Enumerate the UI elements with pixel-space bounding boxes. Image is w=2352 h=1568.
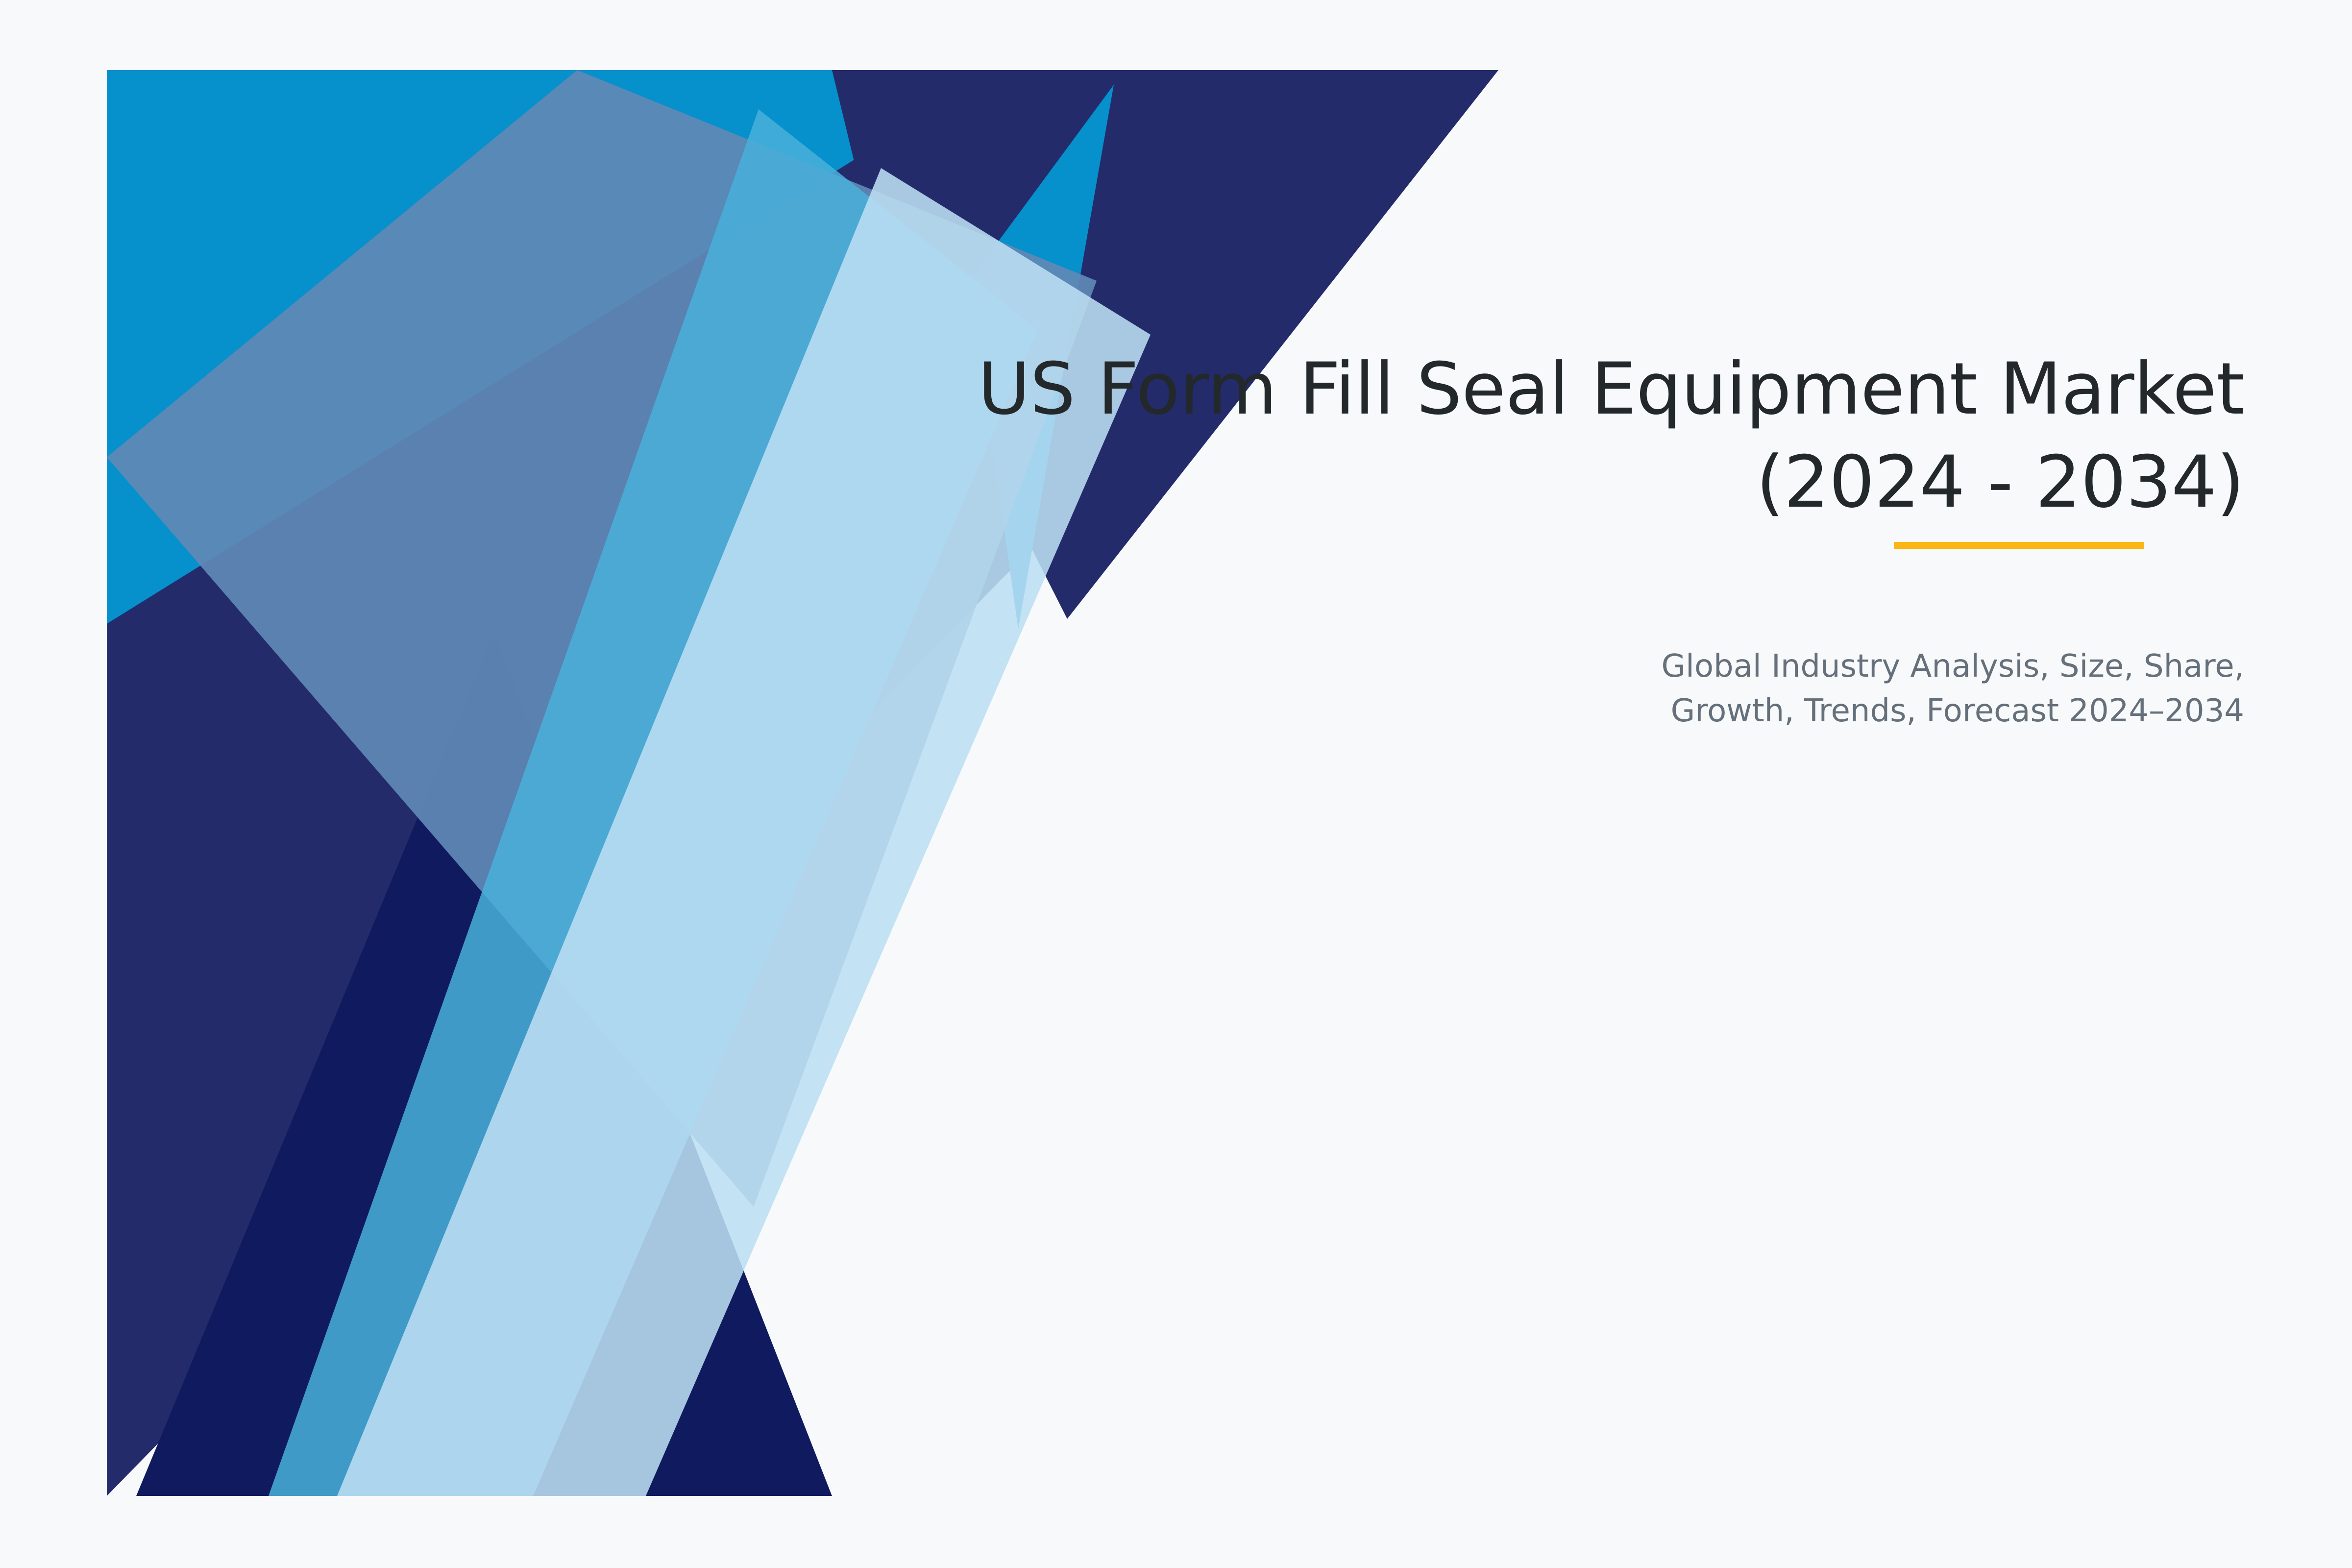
page-title: US Form Fill Seal Equipment Market (2024… [735, 343, 2244, 529]
title-accent-underline [1894, 542, 2144, 549]
artwork-svg [107, 70, 1498, 1496]
title-accent-underline-bar [1894, 542, 2144, 549]
title-block: US Form Fill Seal Equipment Market (2024… [735, 343, 2244, 529]
report-cover-page: US Form Fill Seal Equipment Market (2024… [0, 0, 2352, 1568]
page-subtitle: Global Industry Analysis, Size, Share, G… [1176, 644, 2244, 734]
abstract-geometric-artwork [107, 70, 1498, 1496]
